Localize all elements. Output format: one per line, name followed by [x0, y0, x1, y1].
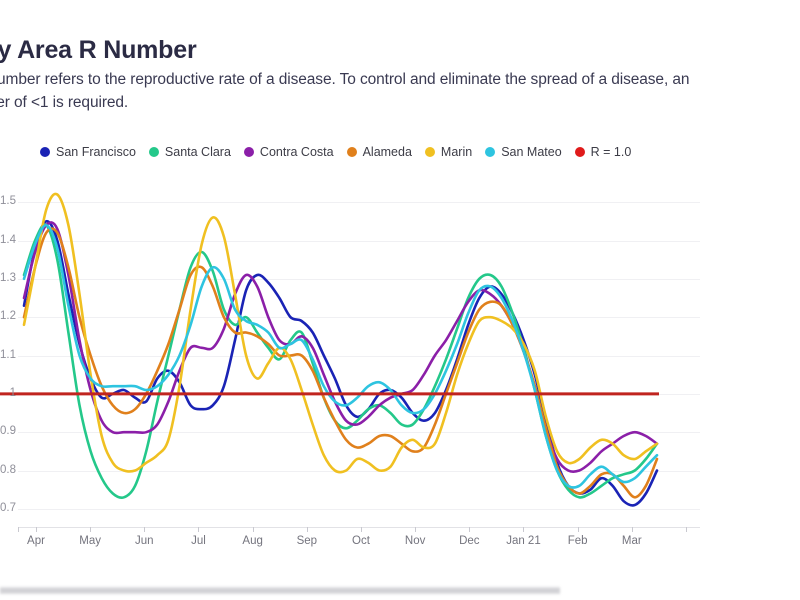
legend-item-contra-costa[interactable]: Contra Costa	[244, 145, 334, 159]
legend-item-label: San Francisco	[56, 145, 136, 159]
legend-item-san-francisco[interactable]: San Francisco	[40, 145, 136, 159]
x-axis-tick	[198, 527, 199, 532]
x-axis-tick	[686, 527, 687, 532]
x-axis-tick	[415, 527, 416, 532]
legend-item-r-1-0[interactable]: R = 1.0	[575, 145, 632, 159]
x-axis-tick-label: Nov	[405, 535, 425, 547]
chart-legend: San FranciscoSanta ClaraContra CostaAlam…	[40, 142, 660, 162]
legend-dot-icon	[244, 147, 254, 157]
legend-item-san-mateo[interactable]: San Mateo	[485, 145, 561, 159]
legend-dot-icon	[425, 147, 435, 157]
legend-item-label: Santa Clara	[165, 145, 231, 159]
x-axis-tick-label: Dec	[459, 535, 479, 547]
legend-item-marin[interactable]: Marin	[425, 145, 472, 159]
y-axis-tick-label: 1.1	[0, 349, 16, 361]
legend-dot-icon	[485, 147, 495, 157]
x-axis-tick	[523, 527, 524, 532]
y-axis-tick-label: 1.4	[0, 234, 16, 246]
legend-item-santa-clara[interactable]: Santa Clara	[149, 145, 231, 159]
y-axis-tick-label: 1.2	[0, 310, 16, 322]
legend-item-label: Marin	[441, 145, 472, 159]
x-axis-tick-label: Apr	[27, 535, 45, 547]
legend-dot-icon	[149, 147, 159, 157]
x-axis-tick-label: Jul	[191, 535, 206, 547]
y-axis-tick-label: 0.8	[0, 464, 16, 476]
y-axis-tick-label: 0.7	[0, 502, 16, 514]
slide-canvas: Bay Area R Number The R Number refers to…	[0, 0, 800, 600]
series-line-san-mateo	[24, 225, 657, 487]
x-axis-tick-label: Feb	[568, 535, 588, 547]
series-line-contra-costa	[24, 222, 657, 471]
legend-item-label: San Mateo	[501, 145, 561, 159]
x-axis-tick-label: Oct	[352, 535, 370, 547]
y-axis-tick-label: 1	[0, 387, 16, 399]
legend-item-alameda[interactable]: Alameda	[347, 145, 412, 159]
x-axis-tick-label: Aug	[242, 535, 262, 547]
x-axis-tick-label: Mar	[622, 535, 642, 547]
y-axis-tick-label: 1.3	[0, 272, 16, 284]
r-number-line-chart: AprMayJunJulAugSepOctNovDecJan 21FebMar	[0, 175, 710, 540]
legend-item-label: R = 1.0	[591, 145, 632, 159]
x-axis-tick	[18, 527, 19, 532]
legend-dot-icon	[40, 147, 50, 157]
legend-item-label: Alameda	[363, 145, 412, 159]
y-axis-labels: 1.51.41.31.21.110.90.80.7	[0, 183, 18, 531]
x-axis-tick	[253, 527, 254, 532]
y-axis-tick-label: 1.5	[0, 195, 16, 207]
x-axis-tick	[361, 527, 362, 532]
x-axis-tick	[632, 527, 633, 532]
offscreen-strip	[0, 586, 560, 594]
x-axis-tick	[307, 527, 308, 532]
x-axis-tick	[578, 527, 579, 532]
x-axis-tick	[469, 527, 470, 532]
legend-item-label: Contra Costa	[260, 145, 334, 159]
x-axis-tick-label: Jan 21	[506, 535, 541, 547]
series-line-santa-clara	[24, 225, 657, 498]
series-curves	[0, 175, 710, 540]
x-axis-tick-label: Sep	[297, 535, 317, 547]
legend-dot-icon	[575, 147, 585, 157]
legend-dot-icon	[347, 147, 357, 157]
x-axis-tick	[36, 527, 37, 532]
x-axis-tick	[144, 527, 145, 532]
page-subtitle: The R Number refers to the reproductive …	[0, 68, 700, 114]
series-line-san-francisco	[24, 221, 657, 505]
x-axis-tick	[90, 527, 91, 532]
x-axis-tick-label: Jun	[135, 535, 154, 547]
y-axis-tick-label: 0.9	[0, 425, 16, 437]
page-title: Bay Area R Number	[0, 36, 706, 65]
x-axis-tick-label: May	[79, 535, 101, 547]
